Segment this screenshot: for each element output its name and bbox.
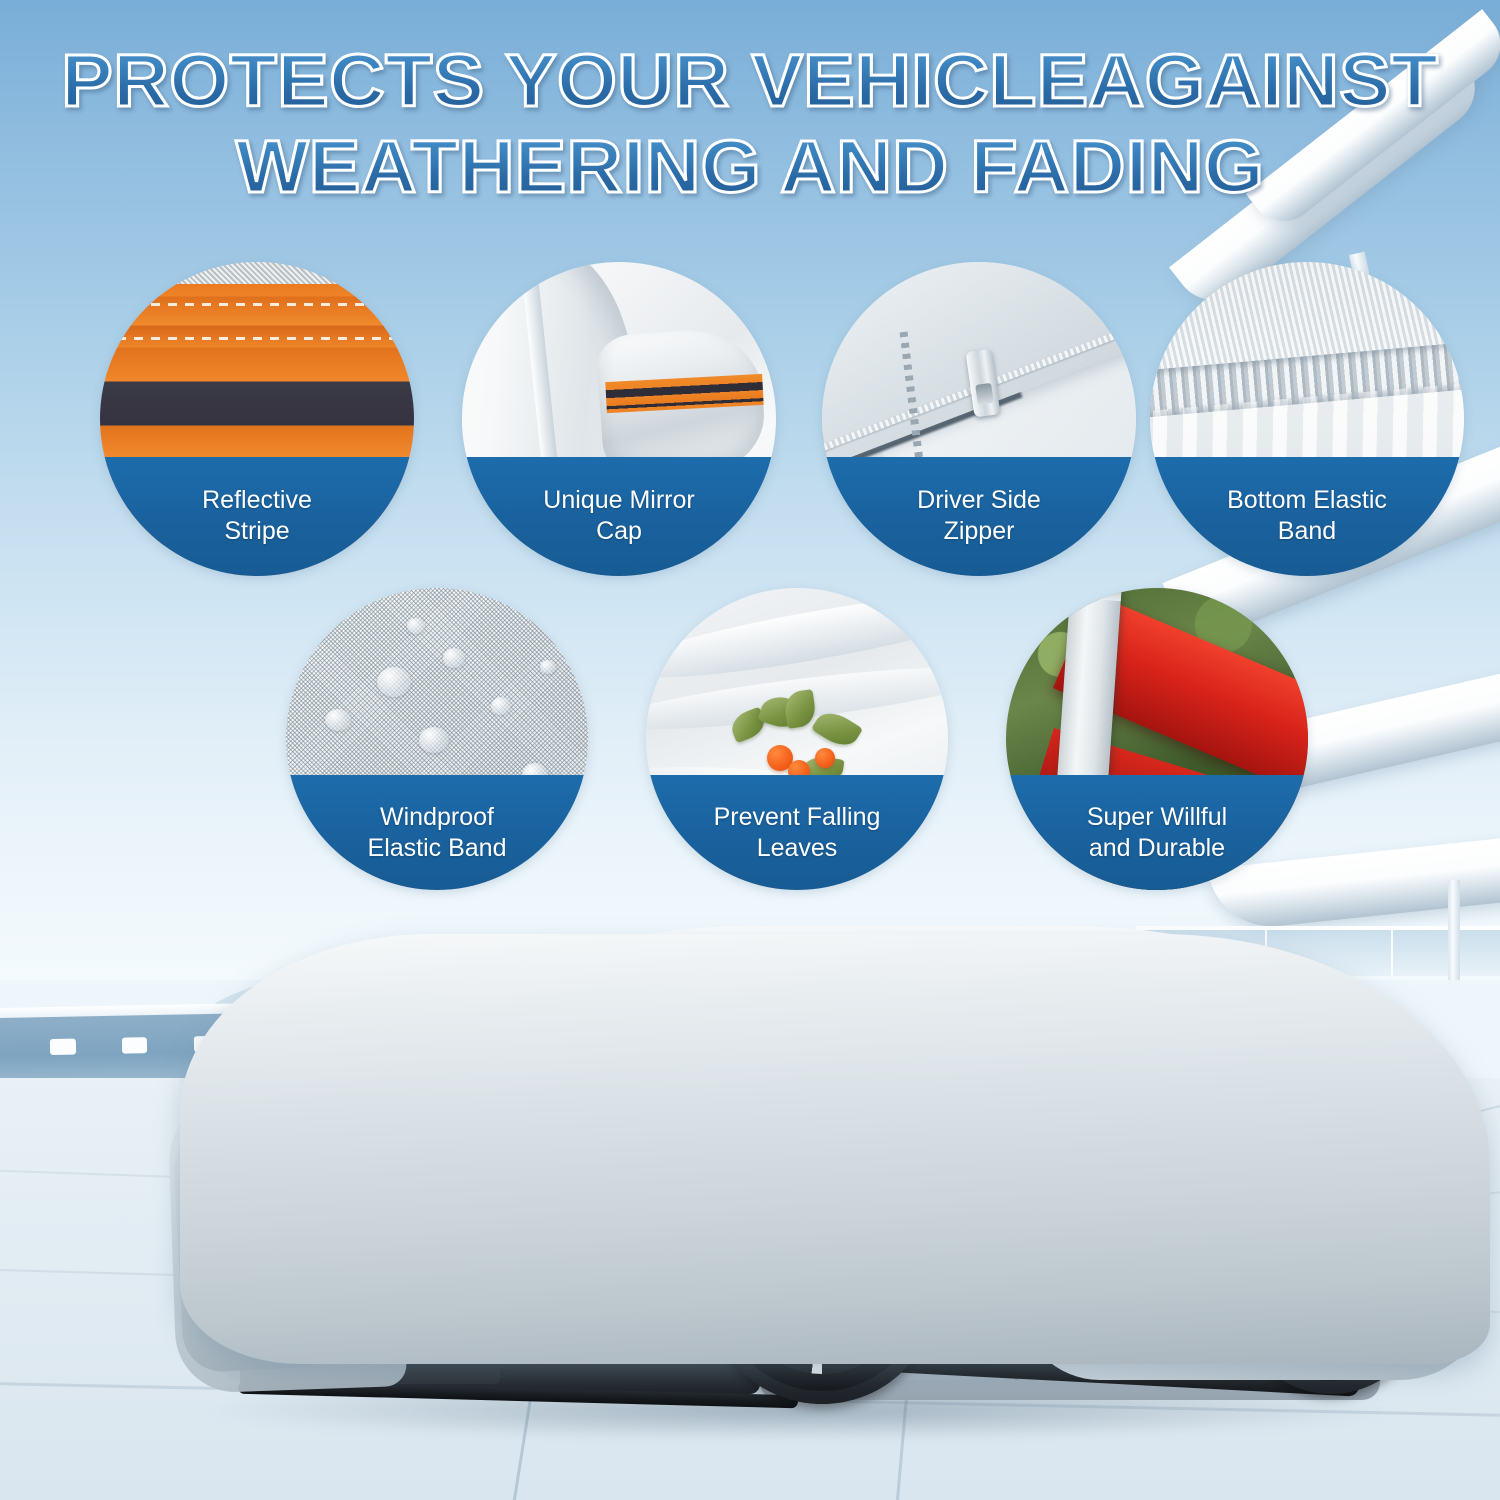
- infographic-canvas: PROTECTS YOUR VEHICLEAGAINST WEATHERING …: [0, 0, 1500, 1500]
- feature-circle-reflective-stripe[interactable]: ReflectiveStripe: [100, 262, 414, 576]
- water-droplet: [325, 709, 351, 731]
- feature-caption: Driver SideZipper: [822, 457, 1136, 576]
- feature-circle-windproof-elastic-band[interactable]: WindproofElastic Band: [286, 588, 588, 890]
- feature-caption: Prevent FallingLeaves: [646, 775, 948, 890]
- feature-caption: Super Willfuland Durable: [1006, 775, 1308, 890]
- wall-window: [50, 1039, 76, 1055]
- mesh-edge: [100, 262, 414, 284]
- feature-caption: Unique MirrorCap: [462, 457, 776, 576]
- feature-caption: Bottom ElasticBand: [1150, 457, 1464, 576]
- car-cover: [180, 934, 1490, 1364]
- headline-line-1: PROTECTS YOUR VEHICLEAGAINST: [0, 38, 1500, 124]
- feature-label: Unique MirrorCap: [527, 485, 710, 547]
- water-droplet: [377, 667, 411, 697]
- water-droplet: [491, 697, 511, 715]
- feature-label: Super Willfuland Durable: [1071, 802, 1243, 864]
- feature-caption: ReflectiveStripe: [100, 457, 414, 576]
- feature-circle-prevent-falling-leaves[interactable]: Prevent FallingLeaves: [646, 588, 948, 890]
- feature-label: Driver SideZipper: [901, 485, 1057, 547]
- feature-label: WindproofElastic Band: [352, 802, 523, 864]
- feature-circle-unique-mirror-cap[interactable]: Unique MirrorCap: [462, 262, 776, 576]
- stitch-line: [100, 303, 414, 306]
- headline: PROTECTS YOUR VEHICLEAGAINST WEATHERING …: [0, 38, 1500, 210]
- feature-label: ReflectiveStripe: [186, 485, 328, 547]
- feature-label: Prevent FallingLeaves: [698, 802, 897, 864]
- feature-circle-bottom-elastic-band[interactable]: Bottom ElasticBand: [1150, 262, 1464, 576]
- headline-line-2: WEATHERING AND FADING: [0, 124, 1500, 210]
- feature-label: Bottom ElasticBand: [1211, 485, 1403, 547]
- water-droplet: [407, 618, 425, 634]
- feature-circle-driver-side-zipper[interactable]: Driver SideZipper: [822, 262, 1136, 576]
- water-droplet: [419, 727, 449, 753]
- stitch-line: [100, 337, 414, 340]
- water-droplet: [443, 648, 465, 668]
- water-droplet: [540, 660, 556, 674]
- feature-circle-super-willful-and-durable[interactable]: Super Willfuland Durable: [1006, 588, 1308, 890]
- hero-vehicle-with-cover: [120, 940, 1480, 1480]
- feature-caption: WindproofElastic Band: [286, 775, 588, 890]
